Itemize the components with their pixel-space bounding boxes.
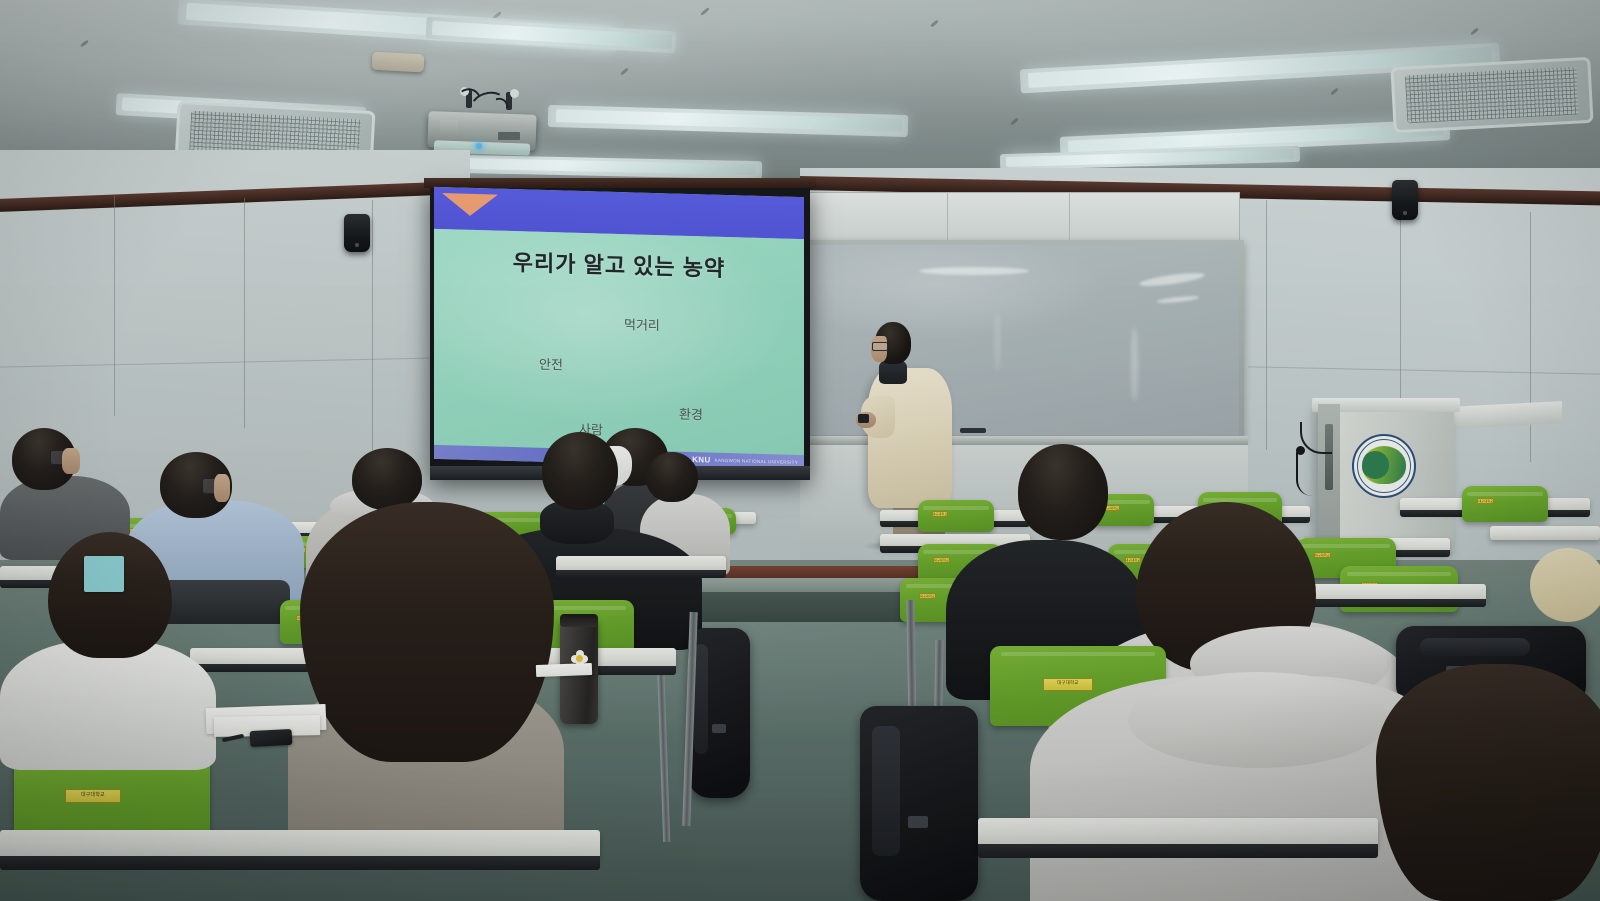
cabinet-seam [947, 193, 948, 243]
person-torso [0, 640, 216, 770]
ac-vent [1390, 57, 1593, 133]
paper-sheet [536, 663, 592, 677]
whiteboard-upper-cabinets [806, 192, 1240, 242]
knu-logo-mark: KNU [692, 455, 711, 465]
chair-label: 대구대학교 [65, 789, 121, 803]
whiteboard-marker [960, 428, 986, 433]
wall-panel-seam [372, 200, 373, 450]
wall-speaker-left [344, 214, 370, 252]
cabinet-seam [1069, 193, 1070, 243]
lecture-hall-photo: 우리가 알고 있는 농약 먹거리 안전 환경 사람 KNU KANGWON NA… [0, 0, 1600, 901]
wall-panel-seam [244, 198, 245, 428]
person-head [300, 502, 554, 762]
chair-label: 대구대학교 [932, 511, 949, 517]
backpack-strap [694, 644, 708, 754]
slide-word-environment: 환경 [679, 404, 703, 424]
chair[interactable]: 대구대학교 [1462, 486, 1548, 522]
desk-edge [978, 844, 1378, 858]
backpack-buckle [712, 724, 726, 733]
ac-vent-grille [1405, 67, 1579, 124]
person-head [48, 532, 172, 658]
backpack-strap [1420, 638, 1530, 656]
desk-edge [0, 856, 600, 870]
presentation-slide: 우리가 알고 있는 농약 먹거리 안전 환경 사람 KNU KANGWON NA… [434, 187, 804, 469]
person-head [1376, 664, 1600, 901]
chair-label: 대구대학교 [1477, 498, 1494, 504]
wall-panel-seam [114, 196, 115, 416]
screen-top-rail [424, 178, 816, 188]
chair-label: 대구대학교 [919, 593, 936, 599]
presentation-clicker[interactable] [858, 414, 869, 423]
projector-lens-housing [440, 120, 458, 140]
chair-label: 대구대학교 [933, 557, 950, 563]
chair-label: 대구대학교 [1314, 552, 1331, 558]
whiteboard-smudge [1157, 295, 1199, 304]
backpack-buckle [908, 816, 928, 828]
person-head [542, 432, 618, 510]
wall-panel-seam [1266, 200, 1267, 450]
presenter-cardigan [868, 368, 952, 508]
desk-edge [556, 570, 726, 578]
logo-emblem [1362, 446, 1406, 484]
whiteboard-smudge [1139, 270, 1206, 288]
microphone-cable [1296, 452, 1312, 496]
hoodie-collar [1128, 672, 1388, 768]
backpack-strap [872, 726, 900, 856]
chair-label: 대구대학교 [1125, 557, 1142, 563]
backpack [688, 628, 750, 798]
whiteboard-smudge [1131, 327, 1138, 401]
projector-power-led [476, 143, 482, 149]
person-head [1018, 444, 1108, 540]
chair[interactable]: 대구대학교 [918, 500, 994, 532]
chair-label: 대구대학교 [1043, 678, 1093, 691]
person-head-partial [1530, 548, 1600, 622]
knu-logo-fullname: KANGWON NATIONAL UNIVERSITY [715, 457, 798, 464]
whiteboard-smudge [995, 313, 1000, 371]
tumbler-lid [560, 614, 598, 627]
projector-port-panel [498, 132, 520, 140]
projector-mount-knob [510, 89, 519, 98]
daegu-university-logo [1352, 434, 1416, 498]
wall-speaker-right [1392, 180, 1418, 220]
backpack [860, 706, 978, 901]
person-face [62, 448, 80, 474]
desk [1490, 526, 1600, 540]
slide-word-safety: 안전 [539, 354, 563, 374]
person-head [646, 452, 698, 502]
glasses-icon [872, 342, 888, 351]
phone [250, 729, 293, 747]
slide-accent-triangle [442, 193, 498, 217]
person-head [352, 448, 422, 510]
slide-word-food: 먹거리 [624, 314, 660, 334]
whiteboard-smudge [919, 267, 1029, 275]
flower-center [576, 655, 583, 662]
smoke-detector-icon [372, 52, 425, 73]
desk-edge [1286, 599, 1486, 607]
person-face [214, 474, 230, 502]
hair-clip [84, 556, 124, 592]
